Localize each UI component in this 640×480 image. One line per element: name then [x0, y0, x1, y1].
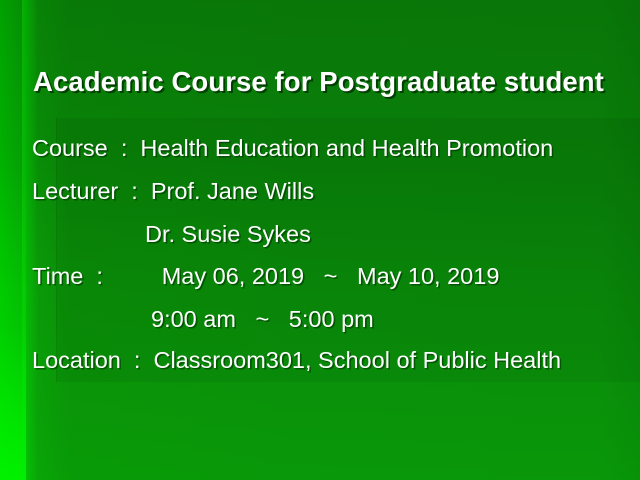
page-title: Academic Course for Postgraduate student — [33, 66, 633, 98]
presentation-slide: Academic Course for Postgraduate student… — [0, 0, 640, 480]
location-line: Location : Classroom301, School of Publi… — [32, 347, 561, 374]
time-line: Time : May 06, 2019 ~ May 10, 2019 — [32, 263, 499, 290]
lecturer-line: Lecturer : Prof. Jane Wills — [32, 178, 314, 205]
slide-content: Academic Course for Postgraduate student… — [0, 0, 640, 480]
time-hours-line: 9:00 am ~ 5:00 pm — [151, 306, 374, 333]
lecturer-second-line: Dr. Susie Sykes — [145, 221, 311, 248]
course-line: Course : Health Education and Health Pro… — [32, 135, 553, 162]
